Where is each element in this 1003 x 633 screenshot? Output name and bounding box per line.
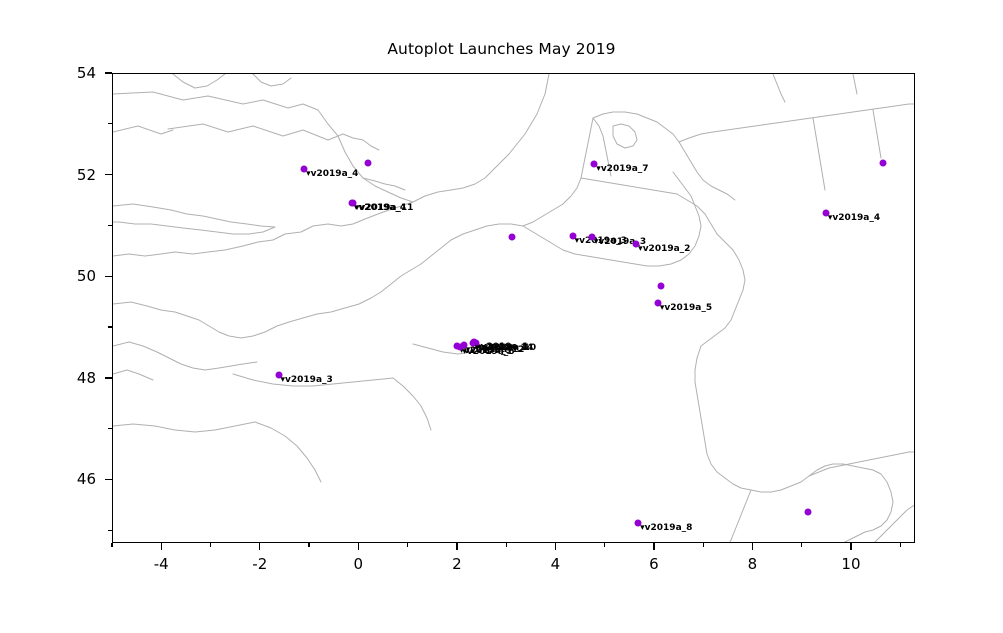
y-tick-label: 54 [50, 64, 96, 82]
y-tick-major [105, 72, 112, 73]
x-tick-minor [900, 543, 901, 547]
y-tick-major [105, 276, 112, 277]
matplotlib-figure: Autoplot Launches May 2019 [0, 0, 1003, 633]
x-tick-major [850, 543, 851, 550]
data-point-label: ▾v2019a_3 [281, 376, 333, 385]
x-tick-minor [407, 543, 408, 547]
x-tick-label: 0 [338, 555, 378, 573]
y-tick-minor [108, 326, 112, 327]
x-tick-minor [506, 543, 507, 547]
x-tick-label: -4 [141, 555, 181, 573]
y-tick-major [105, 377, 112, 378]
map-plot-area: ▾v2019a_4▾v2019a_4▾v2019a_11▾v2019a_7▾v2… [112, 73, 915, 543]
data-point-label: ▾v2019a_12 [466, 346, 525, 355]
coastline-basemap [113, 74, 915, 543]
data-point-label: ▾v2019a_11 [355, 204, 414, 213]
y-tick-minor [108, 123, 112, 124]
x-tick-minor [604, 543, 605, 547]
data-point-marker [879, 159, 886, 166]
data-point-label: ▾v2019a_4 [306, 170, 358, 179]
data-point-marker [657, 282, 664, 289]
x-tick-major [358, 543, 359, 550]
x-tick-minor [308, 543, 309, 547]
x-tick-minor [801, 543, 802, 547]
y-tick-major [105, 479, 112, 480]
page-title: Autoplot Launches May 2019 [0, 40, 1003, 58]
y-tick-label: 48 [50, 369, 96, 387]
x-tick-label: 4 [535, 555, 575, 573]
x-tick-major [653, 543, 654, 550]
y-tick-label: 50 [50, 267, 96, 285]
x-tick-minor [703, 543, 704, 547]
y-tick-minor [108, 225, 112, 226]
x-tick-label: 8 [732, 555, 772, 573]
data-point-label: ▾v2019a_2 [638, 245, 690, 254]
x-tick-minor [210, 543, 211, 547]
x-tick-major [259, 543, 260, 550]
data-point-label: ▾v2019a_8 [640, 524, 692, 533]
x-tick-label: 10 [831, 555, 871, 573]
x-tick-label: 2 [437, 555, 477, 573]
data-point-marker [509, 234, 516, 241]
x-tick-label: 6 [634, 555, 674, 573]
y-tick-major [105, 174, 112, 175]
y-tick-label: 46 [50, 470, 96, 488]
y-tick-minor [108, 530, 112, 531]
x-tick-major [161, 543, 162, 550]
x-tick-major [752, 543, 753, 550]
data-point-label: ▾v2019a_7 [596, 165, 648, 174]
x-tick-major [456, 543, 457, 550]
data-point-label: ▾v2019a_5 [660, 304, 712, 313]
y-tick-label: 52 [50, 166, 96, 184]
data-point-marker [365, 160, 372, 167]
x-tick-major [555, 543, 556, 550]
x-tick-minor [111, 543, 112, 547]
data-point-label: ▾v2019a_4 [828, 214, 880, 223]
x-tick-label: -2 [240, 555, 280, 573]
y-tick-minor [108, 428, 112, 429]
data-point-marker [804, 509, 811, 516]
